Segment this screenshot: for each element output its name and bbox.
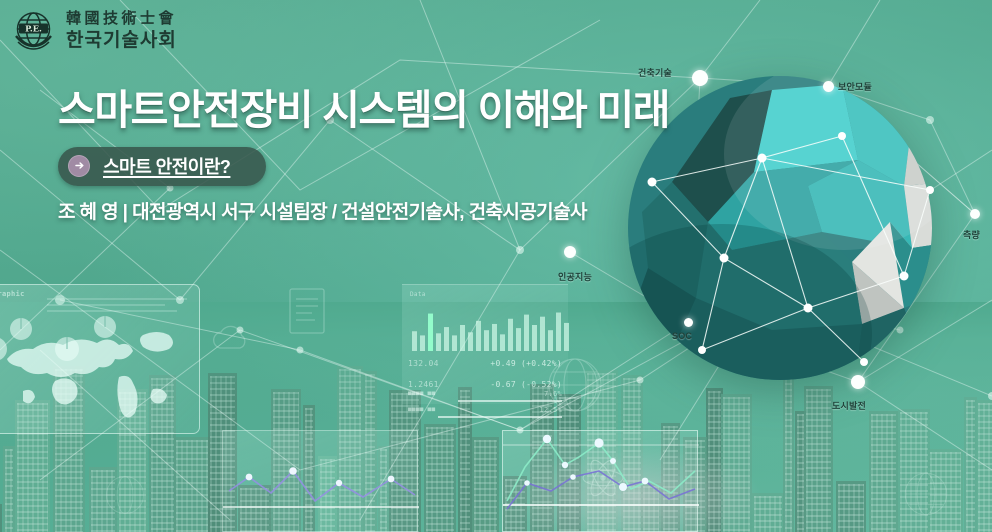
hud-bar: [460, 325, 465, 351]
hud-bar: [476, 321, 481, 351]
korean-professional-engineers-globe-emblem: P.E.: [10, 6, 57, 54]
hud-bars-label: Data: [410, 291, 426, 298]
hud-stat-rows: ■■■■ ■■ 7.6% ■■■■ ■■ 12.5%: [402, 390, 568, 424]
hud-world-map-panel: Graphic: [0, 284, 200, 434]
hud-bar: [524, 315, 529, 351]
presentation-slide: Graphic Data 132.04: [0, 0, 992, 532]
hud-bar: [468, 332, 473, 351]
hud-bar: [436, 333, 441, 351]
hud-bar: [420, 335, 425, 351]
hud-line-chart-panel-left: [222, 430, 418, 532]
network-node-dot: [970, 209, 980, 219]
hud-bar-chart-panel: Data 132.04 +0.49 (+0.42%) 1.2461 -0.67 …: [402, 284, 568, 404]
hud-bar: [428, 314, 433, 351]
hud-line-chart-panel-right: [502, 430, 698, 532]
network-node-dot: [823, 81, 834, 92]
hud-bar: [508, 319, 513, 351]
presenter-byline: 조 혜 영 | 대전광역시 서구 시설팀장 / 건설안전기술사, 건축시공기술사: [58, 197, 669, 224]
hud-bar: [500, 334, 505, 351]
hud-line-chart-left-svg: [223, 431, 419, 532]
organization-logo: P.E. 韓國技術士會 한국기술사회: [10, 6, 177, 54]
network-node-label: 인공지능: [558, 270, 592, 283]
network-node-dot: [692, 70, 708, 86]
network-node-label: 건축기술: [638, 66, 672, 79]
wireframe-globe-icon-secondary: [898, 466, 954, 522]
hud-bar: [516, 328, 521, 351]
network-node-label: 보안모듈: [838, 80, 872, 93]
world-map-icon: [0, 285, 201, 435]
headline-block: 스마트안전장비 시스템의 이해와 미래 스마트 안전이란? 조 혜 영 | 대전…: [58, 88, 669, 224]
hud-bar: [452, 335, 457, 351]
cloud-icon: [208, 318, 252, 358]
section-pill-label: 스마트 안전이란?: [103, 153, 230, 179]
arrow-right-circle-icon: [68, 155, 90, 177]
hud-bar: [412, 331, 417, 351]
hud-bar: [444, 327, 449, 351]
network-node-dot: [851, 375, 865, 389]
hud-bar: [564, 323, 569, 351]
page-title: 스마트안전장비 시스템의 이해와 미래: [58, 88, 669, 134]
logo-hangul: 한국기술사회: [66, 31, 177, 50]
section-pill[interactable]: 스마트 안전이란?: [58, 147, 266, 186]
hud-line-chart-right-svg: [503, 431, 699, 532]
hud-bar: [548, 330, 553, 351]
network-node-label: 도시발전: [832, 399, 866, 412]
hud-quote-up: +0.49 (+0.42%): [490, 359, 562, 368]
hud-quote-down: -0.67 (-0.52%): [490, 380, 562, 389]
hud-bars-svg: [408, 299, 574, 351]
network-node-label: 측량: [963, 228, 980, 241]
logo-hanja: 韓國技術士會: [66, 11, 177, 26]
hud-bar: [556, 313, 561, 351]
network-node-label: SOC: [672, 331, 692, 341]
hud-row-value-1: 132.04: [408, 359, 439, 368]
logo-mark-letters: P.E.: [25, 23, 42, 33]
hud-bar: [492, 324, 497, 351]
network-node-dot: [684, 318, 693, 327]
hud-row-value-2: 1.2461: [408, 380, 439, 389]
network-node-dot: [564, 246, 576, 258]
wireframe-globe-icon-tertiary: [100, 470, 150, 520]
hud-bar: [484, 330, 489, 351]
document-icon: [285, 285, 329, 337]
hud-bar: [532, 325, 537, 351]
hud-bar: [540, 317, 545, 351]
